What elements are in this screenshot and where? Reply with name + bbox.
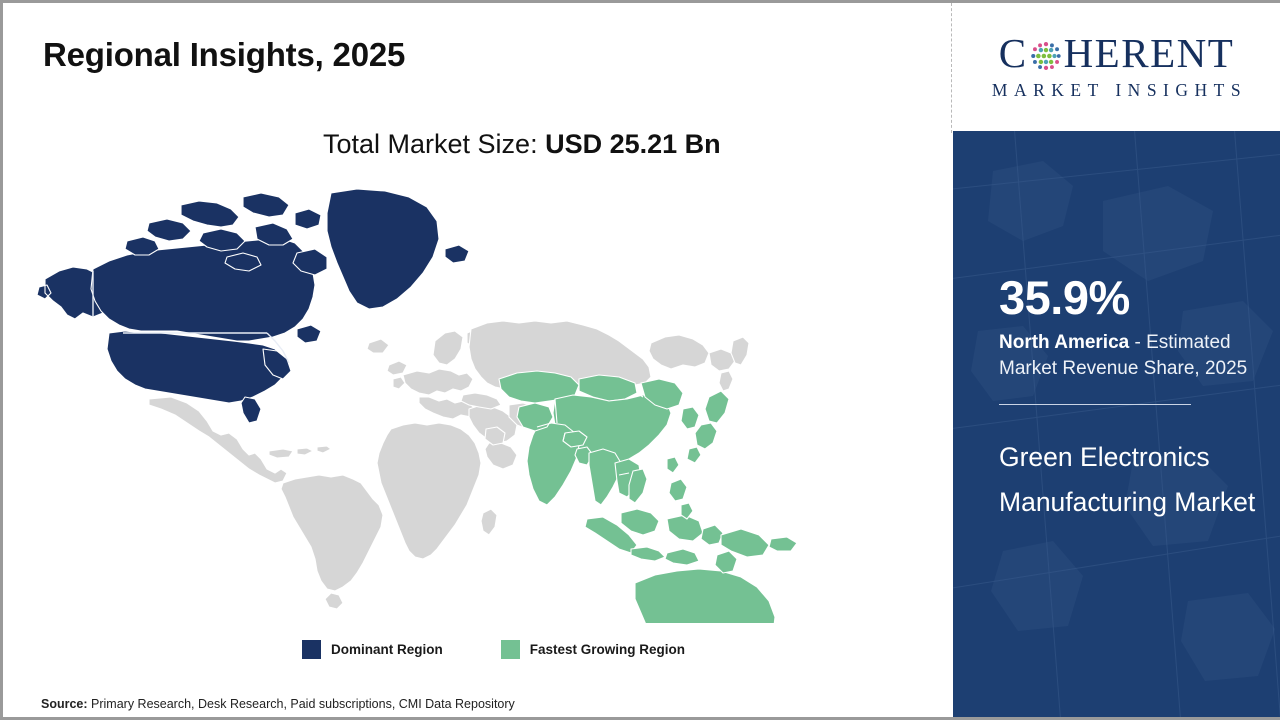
company-logo: C [953,3,1280,131]
source-note: Source: Primary Research, Desk Research,… [41,697,515,711]
vertical-dashed-divider [951,3,952,133]
market-report-name: Green Electronics Manufacturing Market [999,435,1260,524]
map-dominant-region [37,189,469,423]
total-market-size: Total Market Size: USD 25.21 Bn [323,129,721,160]
legend-swatch-dominant [302,640,321,659]
logo-wordmark: C [999,33,1235,74]
stat-region-name: North America [999,332,1129,353]
stat-description: North America - Estimated Market Revenue… [999,330,1260,382]
market-size-value: USD 25.21 Bn [545,129,721,159]
legend-item-fastest-growing: Fastest Growing Region [501,640,685,659]
source-label: Source: [41,697,88,711]
map-fastest-growing-region [499,371,825,623]
page-title: Regional Insights, 2025 [43,36,405,74]
infographic-slide: Regional Insights, 2025 Total Market Siz… [0,0,1280,720]
panel-divider-rule [999,404,1191,405]
panel-content: 35.9% North America - Estimated Market R… [999,274,1260,524]
legend-label-fastest-growing: Fastest Growing Region [530,642,685,657]
logo-word-right: HERENT [1064,33,1235,74]
world-map [31,183,831,623]
legend-label-dominant: Dominant Region [331,642,443,657]
left-content-pane: Regional Insights, 2025 Total Market Siz… [3,3,951,717]
legend-swatch-fastest-growing [501,640,520,659]
map-legend: Dominant Region Fastest Growing Region [302,640,685,659]
stat-percentage: 35.9% [999,274,1260,321]
source-text: Primary Research, Desk Research, Paid su… [88,697,515,711]
logo-subtitle: MARKET INSIGHTS [986,80,1247,101]
logo-word-left: C [999,33,1028,74]
market-size-label: Total Market Size: [323,129,545,159]
legend-item-dominant: Dominant Region [302,640,443,659]
highlight-panel: 35.9% North America - Estimated Market R… [953,131,1280,717]
dotted-globe-icon [1029,39,1063,73]
